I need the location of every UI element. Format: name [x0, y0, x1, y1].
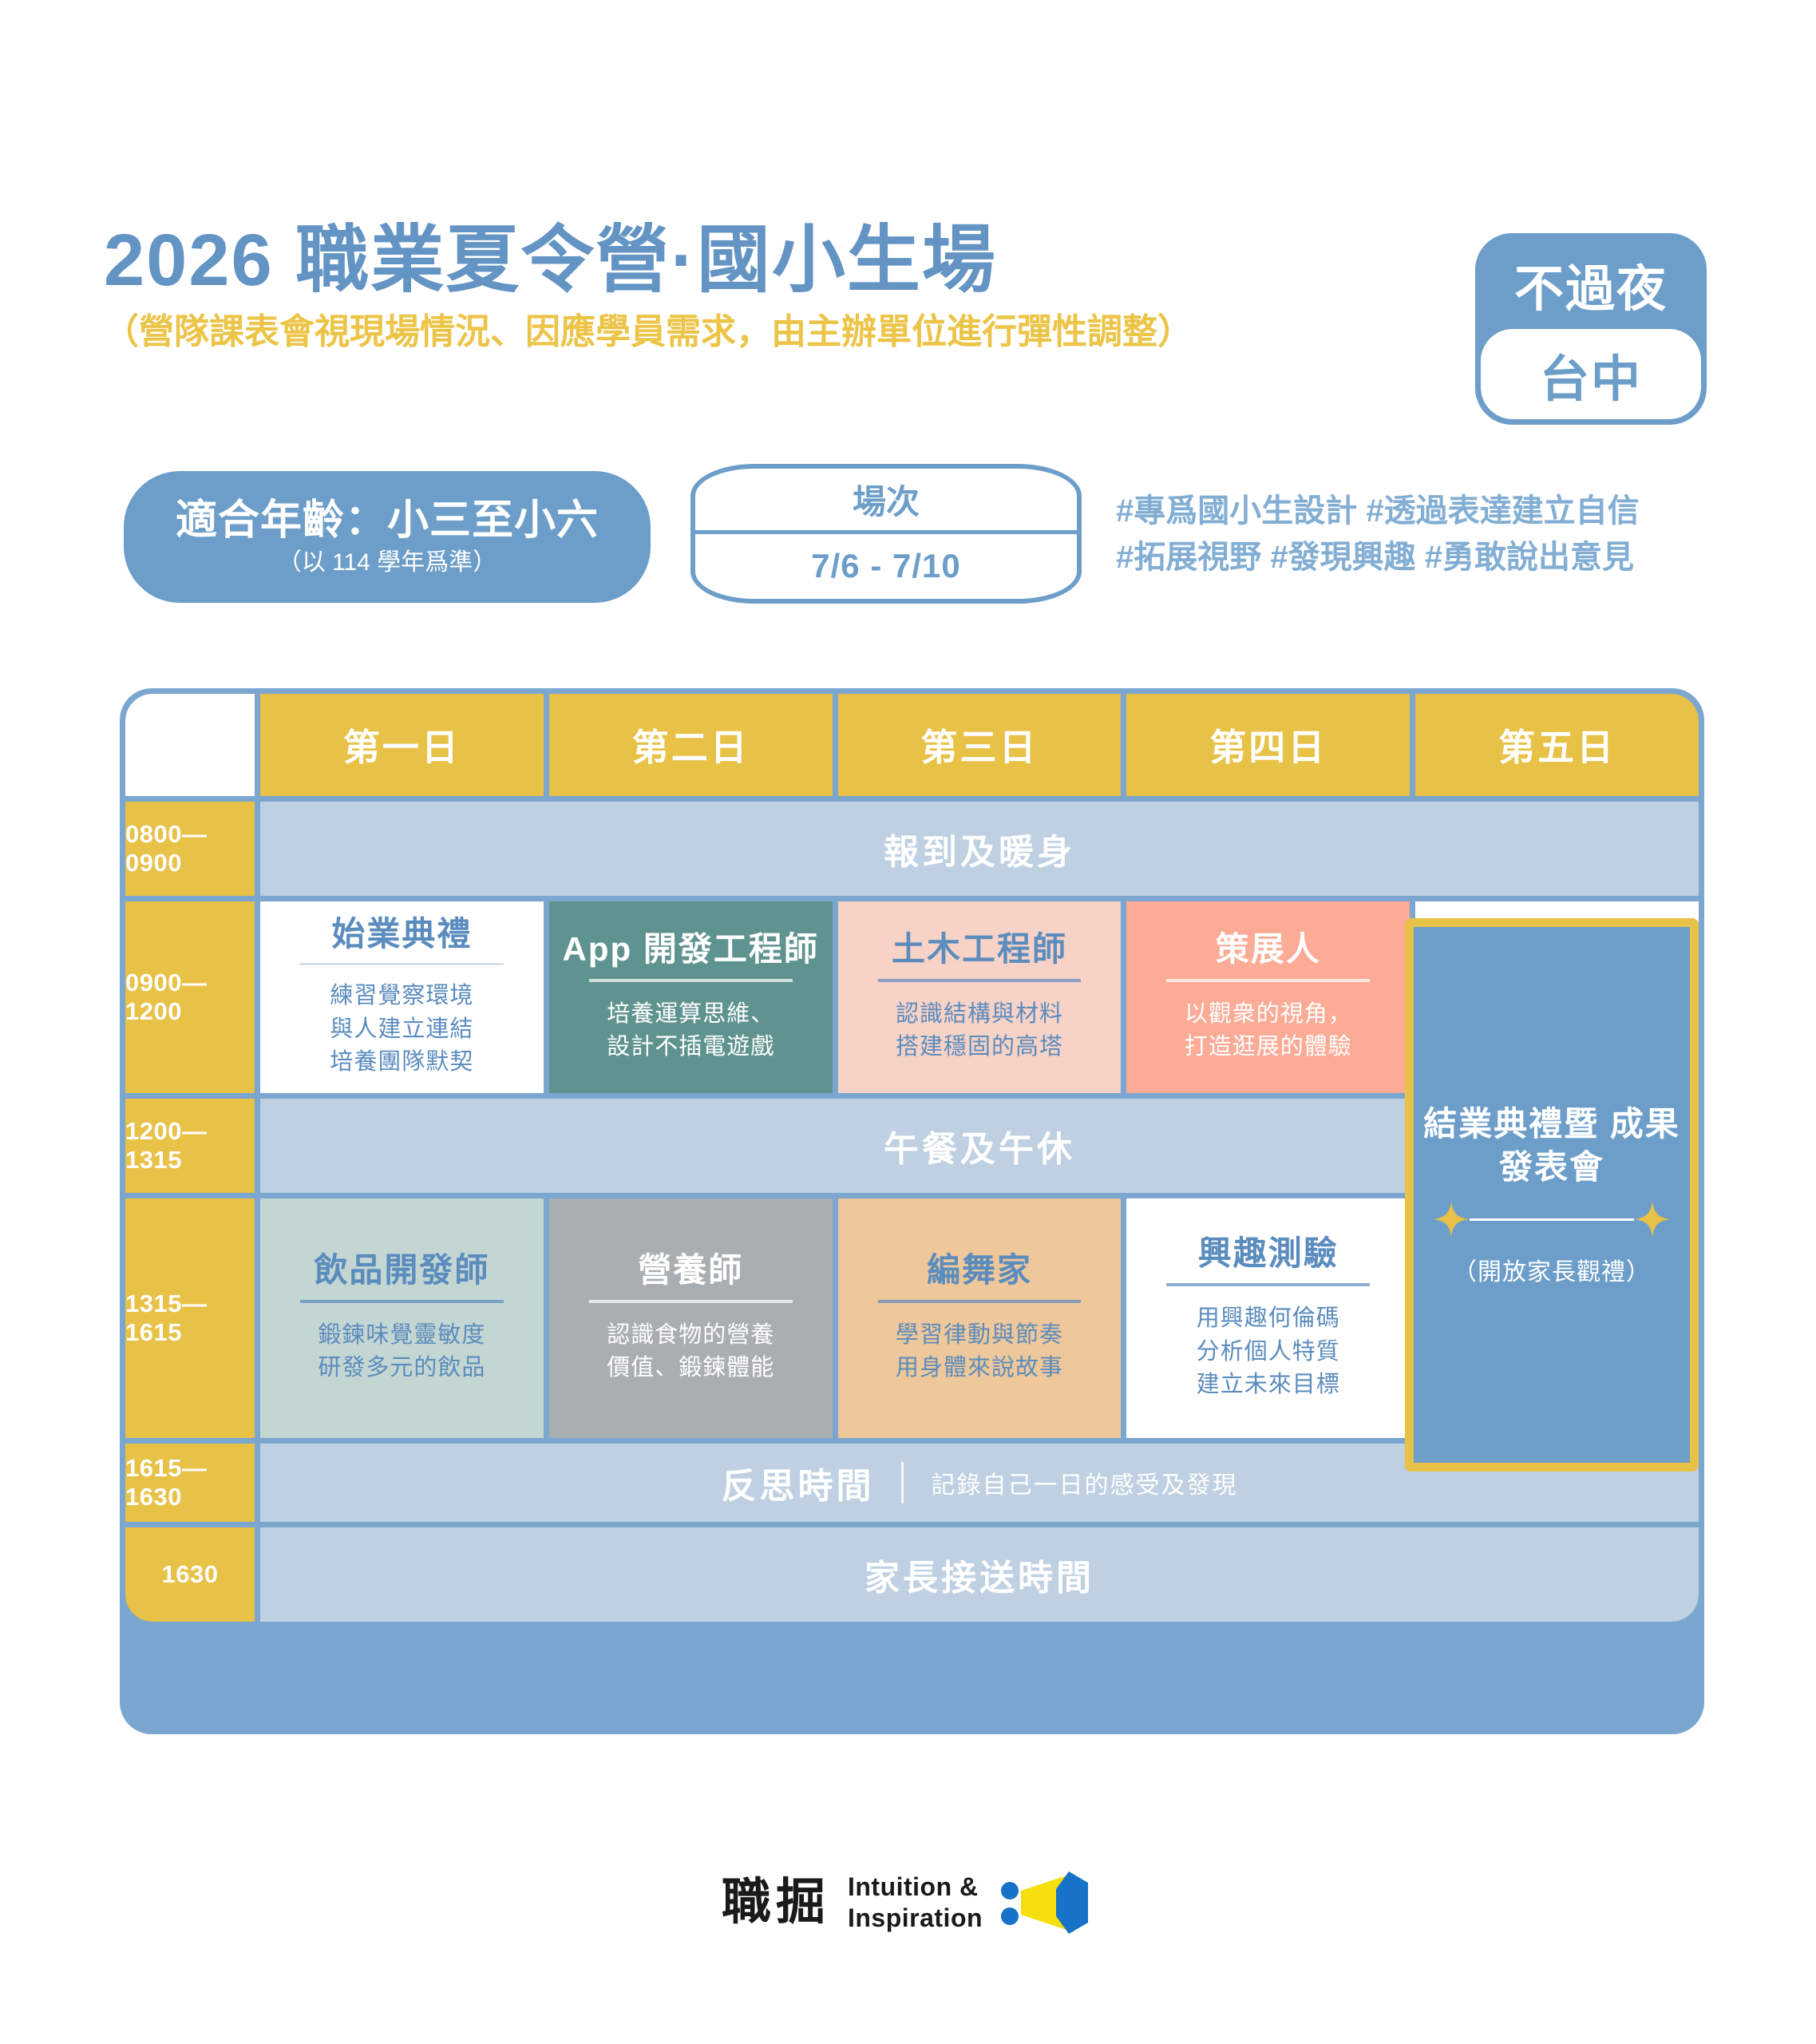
course-card-day1-afternoon[interactable]: 飲品開發師 鍛鍊味覺靈敏度 研發多元的飲品	[260, 1198, 544, 1438]
course-card-day4-afternoon[interactable]: 興趣測驗 用興趣何倫碼 分析個人特質 建立未來目標	[1126, 1198, 1410, 1438]
course-title: 興趣測驗	[1198, 1235, 1339, 1272]
session-label: 場次	[695, 469, 1077, 534]
time-slot-4: 1315—1615	[125, 1198, 255, 1438]
schedule-disclaimer: （營隊課表會視現場情況、因應學員需求，由主辦單位進行彈性調整）	[104, 315, 1193, 350]
course-title: 飲品開發師	[314, 1252, 489, 1289]
title-block: 2026 職業夏令營·國小生場 （營隊課表會視現場情況、因應學員需求，由主辦單位…	[104, 224, 1193, 350]
day-header-5: 第五日	[1415, 694, 1699, 796]
course-card-day2-morning[interactable]: App 開發工程師 培養運算思維、 設計不插電遊戲	[549, 901, 833, 1093]
course-desc: 用興趣何倫碼 分析個人特質 建立未來目標	[1197, 1302, 1340, 1401]
age-range-main: 適合年齡：小三至小六	[176, 499, 599, 543]
page-title: 2026 職業夏令營·國小生場	[104, 224, 1193, 297]
header-corner-blank	[125, 694, 255, 796]
reflection-title: 反思時間	[721, 1457, 874, 1508]
course-title: 始業典禮	[331, 916, 472, 953]
course-divider	[878, 1300, 1082, 1303]
course-divider	[1166, 1283, 1370, 1286]
course-card-day3-afternoon[interactable]: 編舞家 學習律動與節奏 用身體來說故事	[838, 1198, 1122, 1438]
overnight-location-badge: 不過夜 台中	[1475, 233, 1707, 425]
time-slot-5: 1615—1630	[125, 1444, 255, 1522]
info-row: 適合年齡：小三至小六 （以 114 學年爲準） 場次 7/6 - 7/10 #專…	[0, 459, 1816, 611]
finale-divider-row	[1433, 1201, 1671, 1238]
course-card-day1-morning[interactable]: 始業典禮 練習覺察環境 與人建立連結 培養團隊默契	[260, 901, 544, 1093]
finale-divider	[1470, 1218, 1634, 1221]
logo-english-tagline: Intuition & Inspiration	[848, 1872, 983, 1934]
reflection-divider	[901, 1462, 904, 1503]
badge-overnight-label: 不過夜	[1481, 239, 1701, 329]
finale-subtitle: （開放家長觀禮）	[1453, 1252, 1651, 1287]
hashtag-line-1: #專爲國小生設計 #透過表達建立自信	[1116, 488, 1723, 534]
course-card-day5-finale[interactable]: 結業典禮暨 成果發表會 （開放家長觀禮）	[1405, 918, 1699, 1472]
age-range-pill: 適合年齡：小三至小六 （以 114 學年爲準）	[124, 471, 651, 603]
day-header-4: 第四日	[1126, 694, 1410, 796]
course-desc: 練習覺察環境 與人建立連結 培養團隊默契	[330, 980, 473, 1079]
course-desc: 鍛鍊味覺靈敏度 研發多元的飲品	[318, 1319, 485, 1384]
day-header-3: 第三日	[838, 694, 1122, 796]
logo-tagline-line-2: Inspiration	[848, 1903, 983, 1934]
logo-tagline-line-1: Intuition &	[848, 1872, 983, 1903]
course-title: 營養師	[638, 1252, 743, 1289]
course-divider	[589, 979, 793, 982]
hashtag-line-2: #拓展視野 #發現興趣 #勇敢說出意見	[1116, 534, 1723, 580]
sparkle-icon	[1433, 1201, 1470, 1238]
course-desc: 認識食物的營養 價值、鍛鍊體能	[607, 1319, 774, 1384]
course-card-day3-morning[interactable]: 土木工程師 認識結構與材料 搭建穩固的高塔	[838, 901, 1122, 1093]
badge-city-label: 台中	[1481, 329, 1701, 419]
hashtag-list: #專爲國小生設計 #透過表達建立自信 #拓展視野 #發現興趣 #勇敢說出意見	[1116, 488, 1723, 580]
footer-logo: 職掘 Intuition & Inspiration	[0, 1851, 1816, 1955]
course-divider	[589, 1300, 793, 1303]
session-checkin: 報到及暖身	[260, 802, 1699, 896]
course-divider	[1166, 979, 1370, 982]
course-desc: 以觀衆的視角， 打造逛展的體驗	[1185, 998, 1352, 1064]
time-slot-3: 1200—1315	[125, 1099, 255, 1193]
course-divider	[878, 979, 1082, 982]
time-slot-1: 0800—0900	[125, 802, 255, 896]
course-card-day2-afternoon[interactable]: 營養師 認識食物的營養 價值、鍛鍊體能	[549, 1198, 833, 1438]
sparkle-icon	[1634, 1201, 1671, 1238]
course-title: 土木工程師	[892, 931, 1067, 968]
course-divider	[300, 1300, 504, 1303]
poster-header: 2026 職業夏令營·國小生場 （營隊課表會視現場情況、因應學員需求，由主辦單位…	[0, 0, 1816, 447]
course-card-day4-morning[interactable]: 策展人 以觀衆的視角， 打造逛展的體驗	[1126, 901, 1410, 1093]
course-desc: 學習律動與節奏 用身體來說故事	[896, 1319, 1063, 1384]
course-desc: 培養運算思維、 設計不插電遊戲	[607, 998, 774, 1064]
finale-highlight-wrap: 結業典禮暨 成果發表會 （開放家長觀禮）	[1405, 918, 1699, 1472]
logo-chinese-wordmark: 職掘	[722, 1878, 830, 1927]
day-header-1: 第一日	[260, 694, 544, 796]
finale-title: 結業典禮暨 成果發表會	[1414, 1103, 1690, 1189]
logo-beam-icon	[1000, 1868, 1094, 1937]
course-title: 編舞家	[927, 1252, 1032, 1289]
day-header-2: 第二日	[549, 694, 833, 796]
session-date: 7/6 - 7/10	[695, 534, 1077, 600]
schedule-table: 第一日 第二日 第三日 第四日 第五日 0800—0900 報到及暖身 0900…	[120, 688, 1704, 1734]
reflection-desc: 記錄自己一日的感受及發現	[931, 1465, 1237, 1500]
course-desc: 認識結構與材料 搭建穩固的高塔	[896, 998, 1063, 1064]
time-slot-2: 0900—1200	[125, 901, 255, 1093]
course-title: 策展人	[1216, 931, 1321, 968]
session-pickup: 家長接送時間	[260, 1527, 1699, 1622]
age-range-note: （以 114 學年爲準）	[278, 551, 497, 575]
poster-root: 2026 職業夏令營·國小生場 （營隊課表會視現場情況、因應學員需求，由主辦單位…	[0, 0, 1816, 2044]
time-slot-6: 1630	[125, 1527, 255, 1622]
course-title: App 開發工程師	[563, 931, 819, 968]
session-pill: 場次 7/6 - 7/10	[690, 464, 1082, 604]
